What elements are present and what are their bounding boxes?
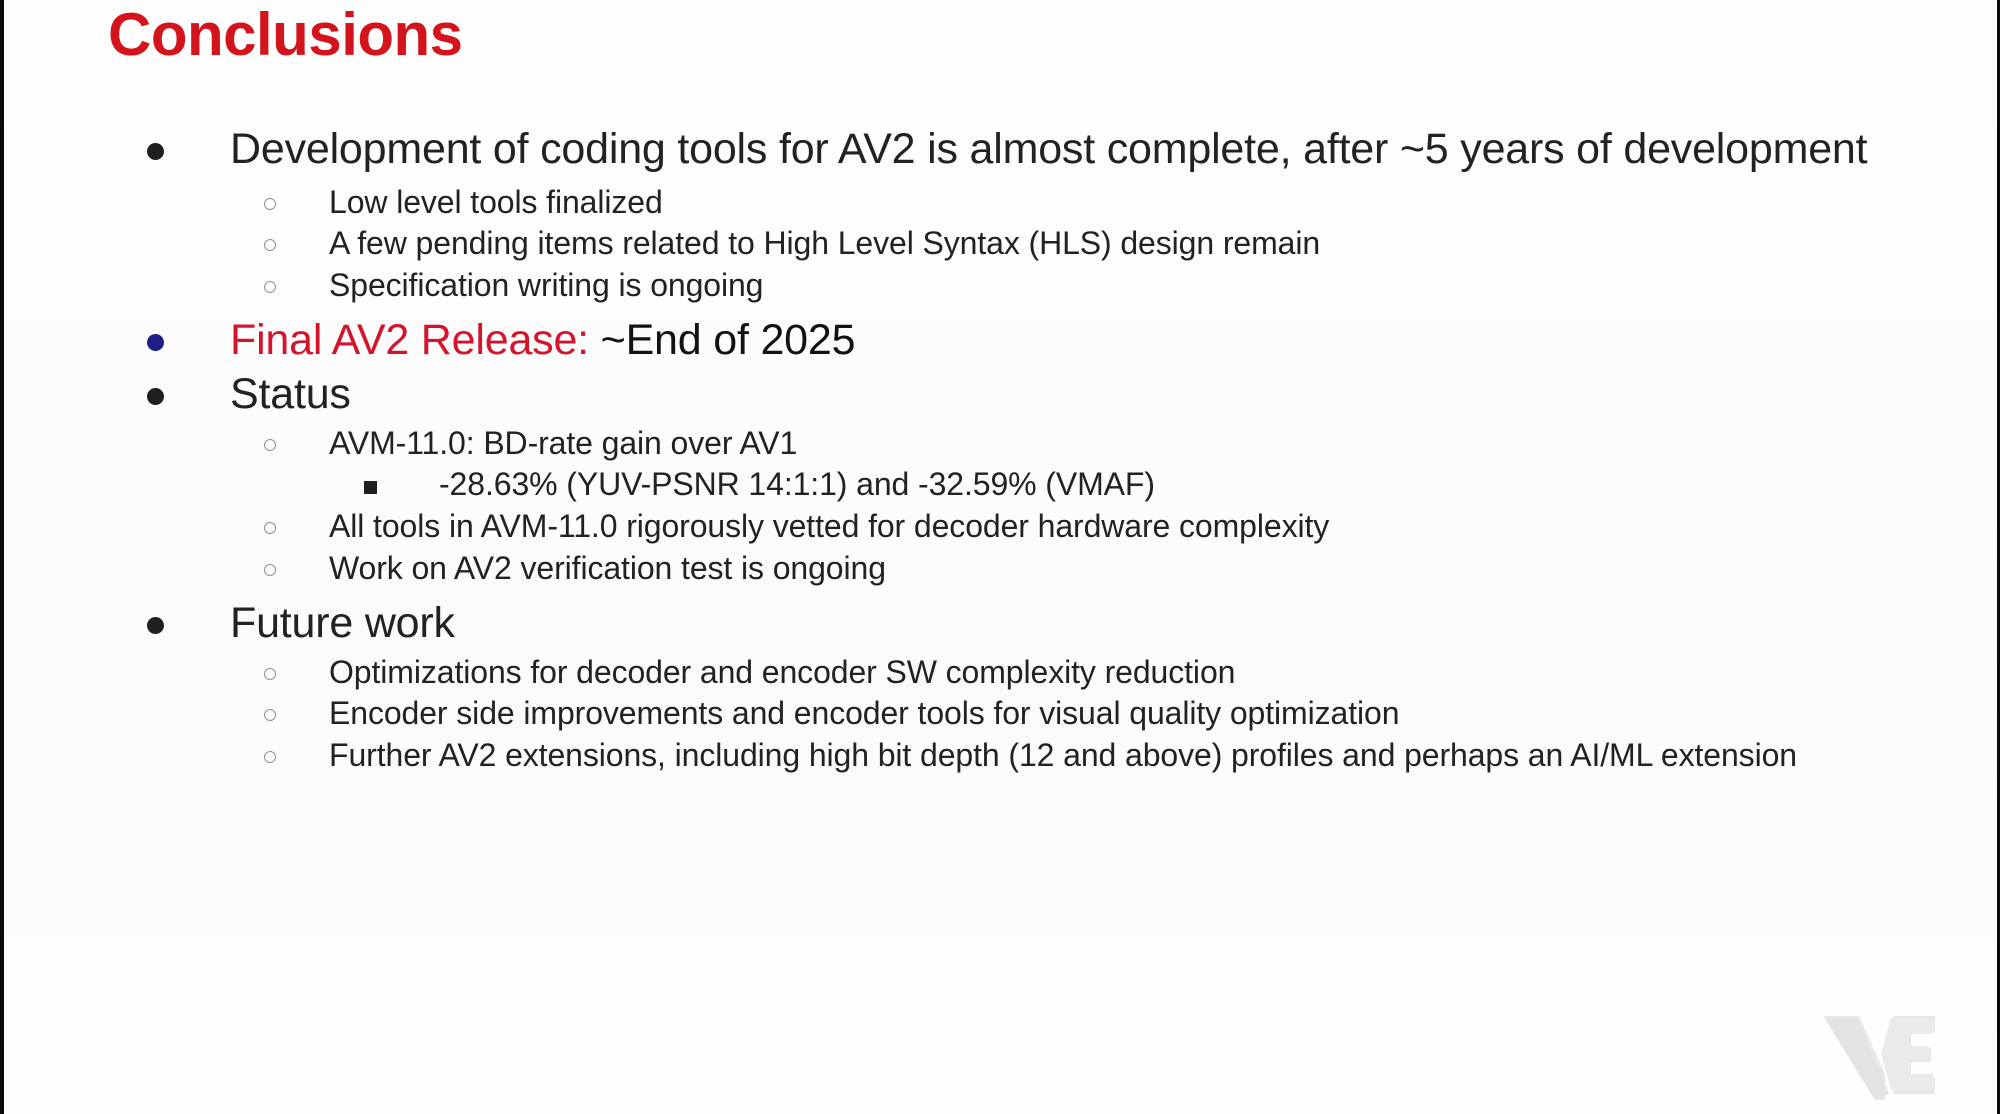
bullet-level2-label: A few pending items related to High Leve… (142, 223, 1320, 264)
bullet-level2-label: AVM-11.0: BD-rate gain over AV1 (142, 423, 797, 464)
filled-square-bullet-icon (364, 481, 377, 494)
hollow-circle-bullet-icon (264, 281, 276, 293)
hollow-circle-bullet-icon (264, 522, 276, 534)
bullet-level2-avm-bdrate: AVM-11.0: BD-rate gain over AV1 (4, 423, 1984, 464)
page-title: Conclusions (108, 2, 463, 68)
bullet-level2-label: Low level tools finalized (142, 182, 663, 223)
bullet-level1-future-work: Future work (4, 598, 1984, 650)
bullet-level1-label: Future work (142, 598, 455, 650)
verge-v-logo-icon (1819, 1010, 1939, 1106)
filled-circle-bullet-icon (147, 143, 164, 160)
bullet-level2-label: Encoder side improvements and encoder to… (142, 693, 1399, 734)
bullet-level2-encoder-improvements: Encoder side improvements and encoder to… (4, 693, 1984, 734)
bullet-level1-label: Status (142, 369, 351, 421)
bullet-level2-label: All tools in AVM-11.0 rigorously vetted … (142, 506, 1329, 547)
bullet-level1-label: Development of coding tools for AV2 is a… (142, 124, 1867, 176)
bullet-level2-hardware-complexity: All tools in AVM-11.0 rigorously vetted … (4, 506, 1984, 547)
final-release-label: Final AV2 Release: (230, 316, 589, 364)
hollow-circle-bullet-icon (264, 198, 276, 210)
bullet-level1-final-release: Final AV2 Release: ~End of 2025 (4, 315, 1984, 367)
slide-body-content: Development of coding tools for AV2 is a… (4, 124, 1984, 777)
hollow-circle-bullet-icon (264, 668, 276, 680)
bullet-level2-label: Optimizations for decoder and encoder SW… (142, 652, 1235, 693)
bullet-level2-hls-pending: A few pending items related to High Leve… (4, 223, 1984, 264)
bullet-level1-status: Status (4, 369, 1984, 421)
bullet-level2-label: Further AV2 extensions, including high b… (142, 735, 1797, 776)
bullet-level1-development: Development of coding tools for AV2 is a… (4, 124, 1984, 176)
bullet-level2-label: Work on AV2 verification test is ongoing (142, 548, 886, 589)
bullet-level3-bdrate-numbers: -28.63% (YUV-PSNR 14:1:1) and -32.59% (V… (4, 464, 1984, 505)
bullet-level2-label: Specification writing is ongoing (142, 265, 763, 306)
hollow-circle-bullet-icon (264, 439, 276, 451)
bullet-level3-label: -28.63% (YUV-PSNR 14:1:1) and -32.59% (V… (142, 464, 1155, 505)
presentation-slide: Conclusions Development of coding tools … (0, 0, 2000, 1114)
final-release-value: ~End of 2025 (589, 316, 855, 364)
bullet-level2-spec-writing: Specification writing is ongoing (4, 265, 1984, 306)
hollow-circle-bullet-icon (264, 751, 276, 763)
hollow-circle-bullet-icon (264, 564, 276, 576)
bullet-level2-av2-extensions: Further AV2 extensions, including high b… (4, 735, 1984, 776)
bullet-level2-sw-complexity: Optimizations for decoder and encoder SW… (4, 652, 1984, 693)
filled-circle-bullet-icon (147, 388, 164, 405)
bullet-level2-verification-test: Work on AV2 verification test is ongoing (4, 548, 1984, 589)
bullet-level2-low-level-tools: Low level tools finalized (4, 182, 1984, 223)
